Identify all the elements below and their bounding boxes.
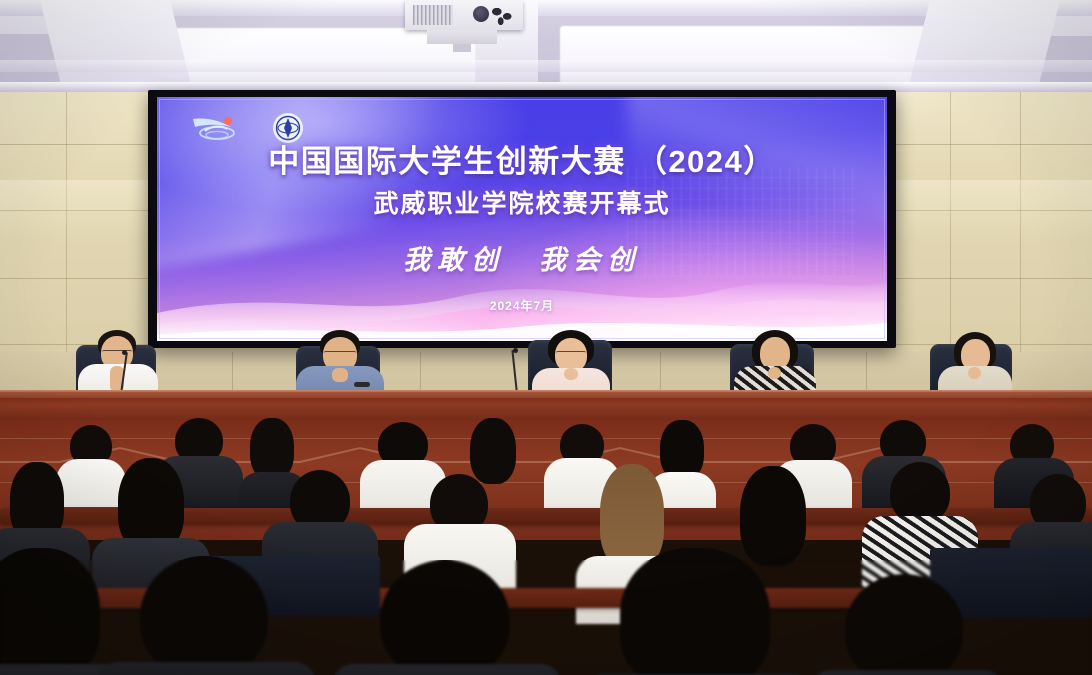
ceiling-beam-cross	[0, 60, 1092, 72]
neck	[968, 367, 981, 379]
led-screen: 中国国际大学生创新大赛 （2024） 武威职业学院校赛开幕式 我敢创 我会创 2…	[157, 97, 887, 341]
head-back-longhair	[620, 548, 770, 675]
body	[56, 459, 126, 507]
screen-title-line1: 中国国际大学生创新大赛 （2024）	[157, 143, 887, 182]
head-back-longhair	[0, 548, 100, 675]
wristwatch	[354, 382, 370, 387]
microphone-head-3	[513, 348, 518, 353]
glasses-icon	[556, 351, 586, 357]
head-back-longhair	[470, 418, 516, 484]
body	[96, 662, 316, 675]
glasses-icon	[324, 351, 356, 357]
projector-pole	[453, 44, 471, 52]
screen-logos	[191, 111, 305, 145]
projector	[405, 0, 523, 30]
conference-photo-scene: 中国国际大学生创新大赛 （2024） 武威职业学院校赛开幕式 我敢创 我会创 2…	[0, 0, 1092, 675]
neck	[564, 368, 578, 380]
head-back	[140, 556, 268, 675]
led-screen-bezel: 中国国际大学生创新大赛 （2024） 武威职业学院校赛开幕式 我敢创 我会创 2…	[148, 90, 896, 348]
neck	[768, 367, 781, 379]
head-back	[890, 462, 950, 524]
head-back	[380, 560, 510, 675]
projector-cables	[489, 2, 515, 26]
projector-mount	[427, 30, 497, 44]
body	[332, 664, 562, 675]
ministry-emblem-logo-icon	[271, 111, 305, 145]
microphone-head-1	[122, 350, 127, 355]
head-back	[845, 574, 963, 675]
wall-line	[0, 438, 1092, 439]
screen-date: 2024年7月	[157, 297, 887, 314]
competition-swoosh-logo-icon	[191, 111, 245, 145]
head-back-longhair	[740, 466, 806, 566]
neck	[332, 368, 348, 382]
head-back-longhair	[250, 418, 294, 480]
head-back-longhair	[660, 420, 704, 480]
body	[809, 670, 1005, 675]
projector-vent	[413, 5, 453, 25]
ceiling-light-panel-right	[560, 26, 940, 86]
projector-lens-icon	[473, 6, 489, 22]
screen-title-line2: 武威职业学院校赛开幕式	[157, 189, 887, 220]
screen-text-block: 中国国际大学生创新大赛 （2024） 武威职业学院校赛开幕式 我敢创 我会创 2…	[157, 143, 887, 314]
head-back-brownhair	[600, 464, 664, 568]
ceiling	[0, 0, 1092, 96]
screen-slogan: 我敢创 我会创	[157, 238, 887, 277]
